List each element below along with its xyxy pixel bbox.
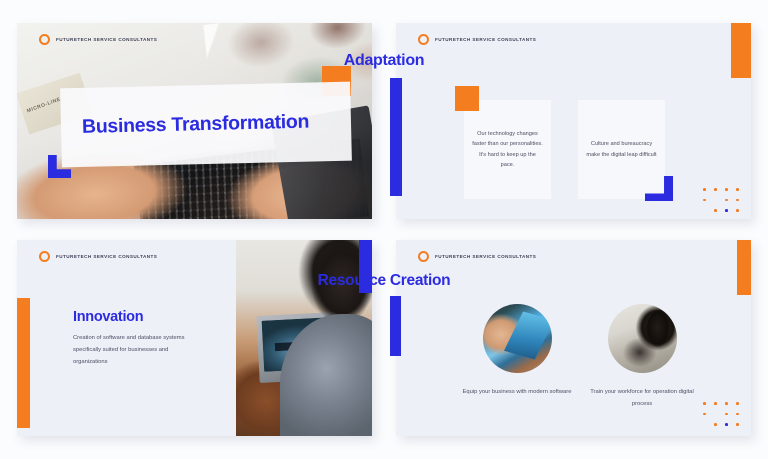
slide3-title: Innovation	[73, 309, 191, 325]
decorative-dot	[725, 413, 728, 416]
slide3-orange-accent-bar	[17, 298, 30, 428]
slide3-blue-accent-bar	[359, 240, 372, 293]
slide2-blue-accent-bar	[390, 78, 402, 196]
slide1-logo: FUTURETECH SERVICE CONSULTANTS	[39, 34, 157, 45]
decorative-dot	[736, 423, 739, 426]
circle-ring-icon	[418, 34, 429, 45]
decorative-dot	[736, 188, 739, 191]
decorative-dot	[725, 199, 728, 202]
decorative-dot	[725, 188, 728, 191]
slide1-title-band: Business Transformation	[60, 82, 352, 168]
circle-ring-icon	[39, 34, 50, 45]
slide2-title: Adaptation	[0, 52, 768, 70]
slide-deck-preview: MICRO-LINE FUTURETECH SERVICE CONSULTANT…	[0, 0, 768, 459]
slide4-logo: FUTURETECH SERVICE CONSULTANTS	[418, 251, 536, 262]
slide4-dot-pattern	[699, 398, 743, 430]
photo-notebook-label: MICRO-LINE	[26, 96, 62, 114]
slide4-item-2-image	[608, 304, 677, 373]
slide4-item-1: Equip your business with modern software	[461, 304, 573, 399]
decorative-dot	[725, 402, 728, 405]
slide3-photo-man-with-laptop	[236, 240, 372, 436]
slide2-logo-label: FUTURETECH SERVICE CONSULTANTS	[435, 37, 536, 42]
decorative-dot	[703, 199, 706, 202]
slide4-title: Resource Creation	[0, 272, 768, 290]
decorative-dot	[736, 413, 739, 416]
circle-ring-icon	[418, 251, 429, 262]
slide3-logo-label: FUTURETECH SERVICE CONSULTANTS	[56, 254, 157, 259]
decorative-dot	[714, 188, 717, 191]
slide1-logo-label: FUTURETECH SERVICE CONSULTANTS	[56, 37, 157, 42]
slide2-card-2: Culture and bureaucracy make the digital…	[578, 100, 665, 199]
slide4-item-2-caption: Train your workforce for operation digit…	[586, 387, 698, 410]
slide2-card-1: Our technology changes faster than our p…	[464, 100, 551, 199]
slide3-body: Creation of software and database system…	[73, 333, 191, 369]
slide4-item-1-image	[483, 304, 552, 373]
slide4-orange-accent-bar	[737, 240, 751, 295]
decorative-dot	[703, 188, 706, 191]
slide4-item-2: Train your workforce for operation digit…	[586, 304, 698, 410]
decorative-dot	[703, 413, 706, 416]
decorative-dot	[736, 209, 739, 212]
slide4-item-1-caption: Equip your business with modern software	[461, 387, 573, 399]
decorative-dot	[714, 402, 717, 405]
slide4-logo-label: FUTURETECH SERVICE CONSULTANTS	[435, 254, 536, 259]
slide2-logo: FUTURETECH SERVICE CONSULTANTS	[418, 34, 536, 45]
decorative-dot	[703, 402, 706, 405]
decorative-dot	[714, 423, 717, 426]
decorative-dot	[736, 199, 739, 202]
decorative-dot	[736, 402, 739, 405]
slide1-title: Business Transformation	[82, 111, 310, 139]
slide2-dot-pattern	[699, 184, 743, 216]
slide2-orange-square	[455, 86, 479, 111]
slide3-logo: FUTURETECH SERVICE CONSULTANTS	[39, 251, 157, 262]
slide3-text-block: Innovation Creation of software and data…	[73, 309, 191, 369]
decorative-dot	[725, 423, 728, 426]
decorative-dot	[714, 209, 717, 212]
slide2-card-2-text: Culture and bureaucracy make the digital…	[586, 139, 657, 160]
decorative-dot	[725, 209, 728, 212]
slide2-orange-accent-bar	[731, 23, 751, 78]
circle-ring-icon	[39, 251, 50, 262]
slide4-blue-accent-bar	[390, 296, 401, 356]
slide2-card-1-text: Our technology changes faster than our p…	[472, 129, 543, 170]
